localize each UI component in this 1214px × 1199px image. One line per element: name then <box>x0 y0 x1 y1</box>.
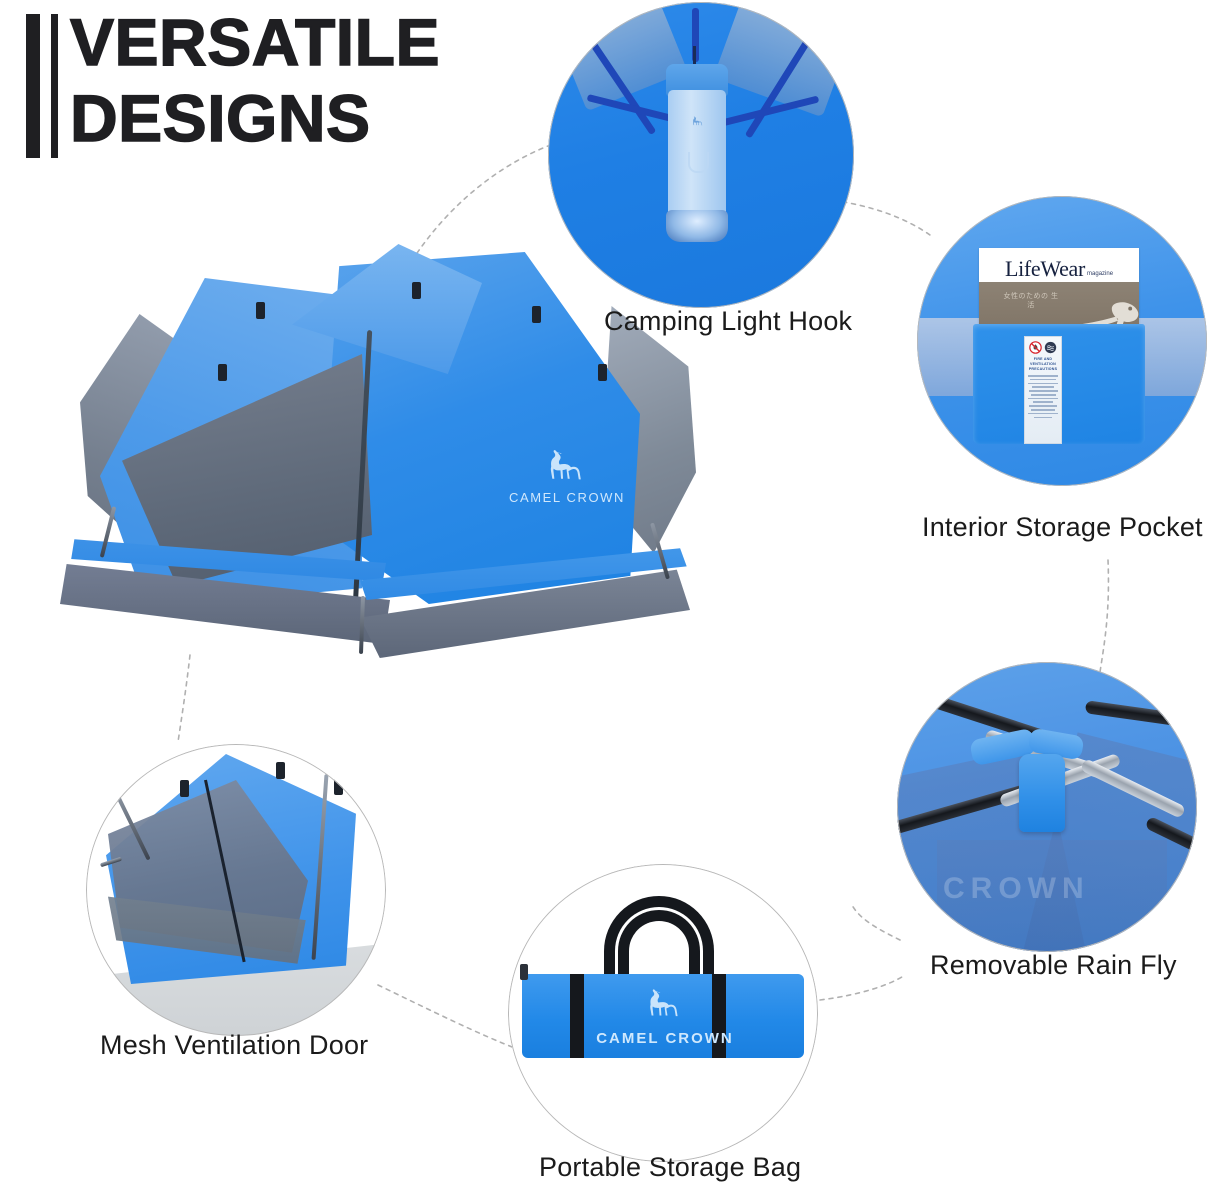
page-title: VERSATILE DESIGNS <box>26 10 546 170</box>
lantern-brand-logo <box>678 114 718 130</box>
title-bar-thin <box>51 14 58 158</box>
pole-clip <box>256 302 265 319</box>
pole-clip <box>180 780 189 797</box>
warning-icon-row <box>1028 341 1058 354</box>
feature-image-removable-rain-fly: CROWN <box>897 662 1197 952</box>
warning-label-body <box>1028 375 1058 418</box>
title-line-2: DESIGNS <box>70 80 440 156</box>
title-bar-thick <box>26 14 40 158</box>
connector-pocket-to-rainfly <box>1100 560 1108 672</box>
magazine-title: LifeWear <box>1005 256 1085 282</box>
pole-clip <box>334 778 343 795</box>
connector-rainfly-label <box>852 905 900 940</box>
camel-icon <box>690 114 706 128</box>
feature-label-removable-rain-fly: Removable Rain Fly <box>930 950 1177 981</box>
feature-label-camping-light-hook: Camping Light Hook <box>604 306 852 337</box>
ventilation-icon <box>1044 341 1057 354</box>
pole-clip <box>218 364 227 381</box>
rainfly-watermark: CROWN <box>943 872 1090 906</box>
title-text: VERSATILE DESIGNS <box>70 4 440 156</box>
bag-zipper-pull <box>520 964 528 980</box>
warning-label-title: FIRE AND VENTILATION PRECAUTIONS <box>1028 357 1058 372</box>
magazine-subtitle: magazine <box>1087 271 1113 277</box>
magazine-header: LifeWear magazine <box>979 248 1139 282</box>
rainfly-tie-knot <box>1019 754 1065 832</box>
bag-brand-logo: CAMEL CROWN <box>590 982 740 1047</box>
pole-clip <box>598 364 607 381</box>
feature-label-portable-storage-bag: Portable Storage Bag <box>539 1152 801 1183</box>
lantern-lens <box>666 210 728 242</box>
title-line-1: VERSATILE <box>70 4 440 80</box>
lantern-power-button <box>688 152 709 173</box>
connector-bag-to-rainfly <box>820 975 905 1000</box>
connector-mesh-to-bag <box>378 985 520 1050</box>
pole-clip <box>532 306 541 323</box>
feature-image-mesh-ventilation-door <box>86 744 386 1036</box>
no-fire-icon <box>1029 341 1042 354</box>
feature-label-mesh-ventilation-door: Mesh Ventilation Door <box>100 1030 368 1061</box>
feature-image-camping-light-hook <box>548 2 854 308</box>
feature-image-portable-storage-bag: CAMEL CROWN <box>508 864 818 1162</box>
feature-image-interior-storage-pocket: LifeWear magazine 女性のための 生活 <box>917 196 1207 486</box>
feature-label-interior-storage-pocket: Interior Storage Pocket <box>922 512 1203 543</box>
warning-label-tag: FIRE AND VENTILATION PRECAUTIONS <box>1024 336 1062 444</box>
camel-icon <box>544 442 590 488</box>
product-brand-logo: CAMEL CROWN <box>502 442 632 505</box>
infographic-page: VERSATILE DESIGNS <box>0 0 1214 1199</box>
bag-brand-text: CAMEL CROWN <box>590 1030 740 1047</box>
bag-vertical-strap <box>570 974 584 1058</box>
product-brand-text: CAMEL CROWN <box>502 490 632 505</box>
pole-clip <box>412 282 421 299</box>
camel-icon <box>643 982 687 1024</box>
pole-clip <box>276 762 285 779</box>
